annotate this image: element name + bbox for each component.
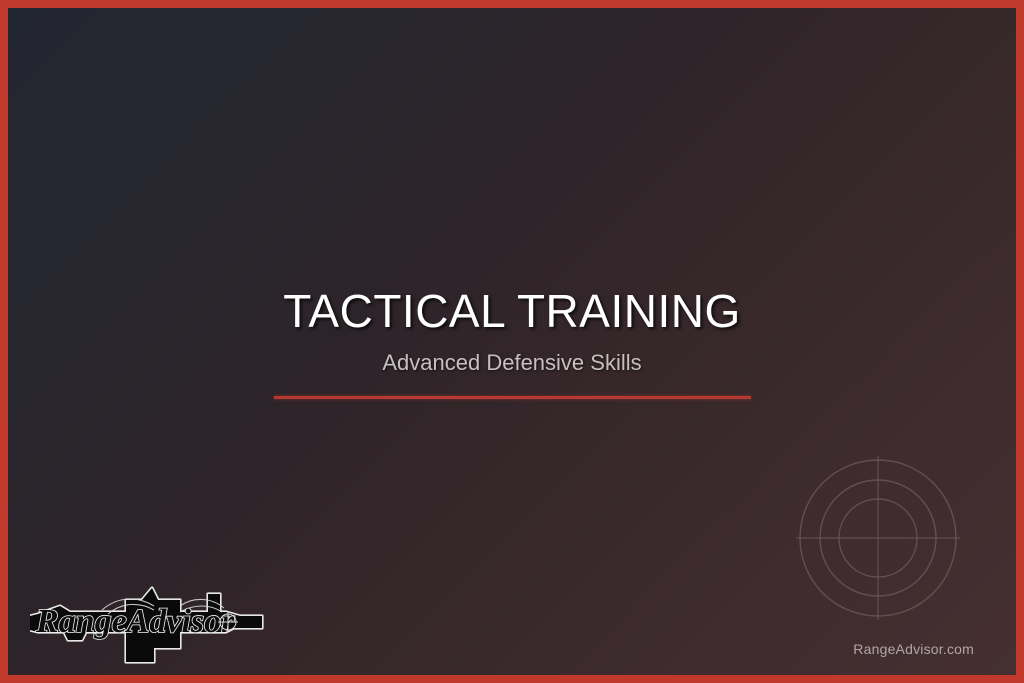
brand-logo: RangeAdvisor [30,570,274,664]
title-divider [274,396,751,399]
footer-url: RangeAdvisor.com [853,641,974,657]
page-subtitle: Advanced Defensive Skills [8,350,1016,376]
crosshair-target-icon [790,450,966,626]
page-title: TACTICAL TRAINING [8,286,1016,338]
brand-wordmark: RangeAdvisor [35,603,235,640]
presentation-slide: TACTICAL TRAINING Advanced Defensive Ski… [0,0,1024,683]
title-block: TACTICAL TRAINING Advanced Defensive Ski… [8,286,1016,399]
